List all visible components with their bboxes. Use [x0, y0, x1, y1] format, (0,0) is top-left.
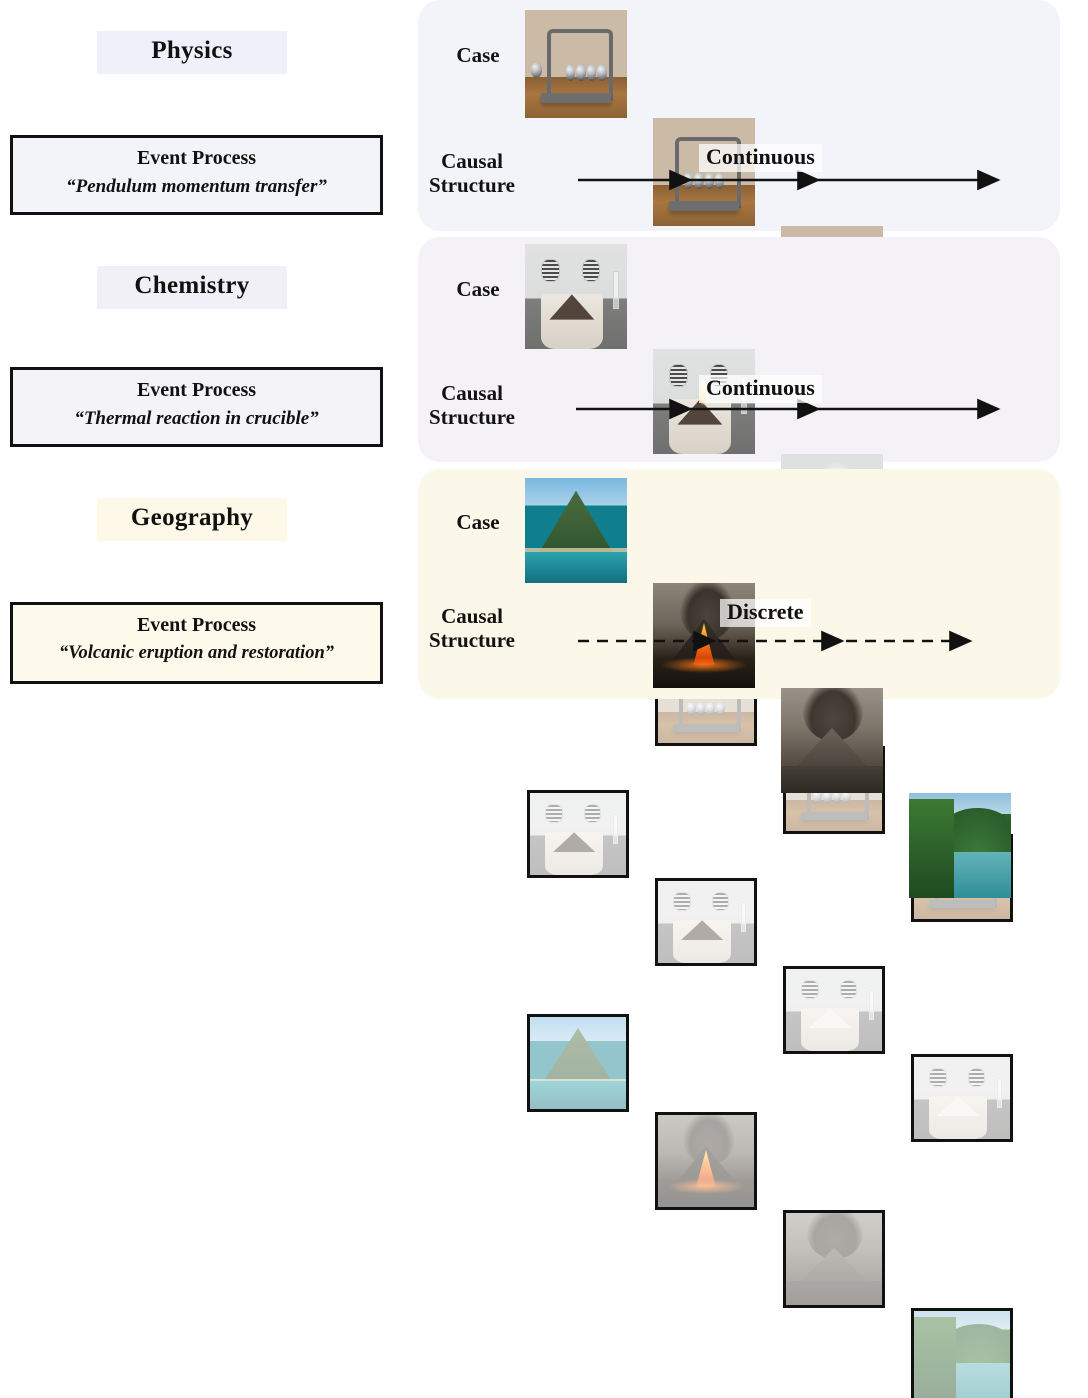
event-process-quote-chemistry: “Thermal reaction in crucible” [15, 405, 378, 434]
causal-frame-3-chemistry [783, 966, 885, 1054]
event-process-quote-geography: “Volcanic eruption and restoration” [15, 640, 378, 668]
causal-frame-3-geography [783, 1210, 885, 1308]
causal-label-line2: Structure [418, 629, 526, 653]
causal-frame-1-chemistry [527, 790, 629, 878]
causal-label-line1: Causal [418, 150, 526, 174]
case-frame-1-geography [525, 478, 627, 583]
causal-label-line2: Structure [418, 174, 526, 198]
panel-physics: Case Causal Structure [418, 0, 1060, 231]
event-process-box-geography: Event Process “Volcanic eruption and res… [10, 602, 383, 684]
causal-row-label-chemistry: Causal Structure [418, 382, 526, 429]
causal-label-line1: Causal [418, 605, 526, 629]
panel-geography: Case Causal Structure [418, 469, 1060, 699]
case-frame-4-geography [909, 793, 1011, 898]
causal-frame-2-geography [655, 1112, 757, 1210]
case-row-label-physics: Case [424, 44, 532, 68]
case-frame-1-physics [525, 10, 627, 118]
domain-title-geography: Geography [97, 498, 287, 541]
panel-chemistry: Case Causal Structure [418, 237, 1060, 462]
event-process-title-geography: Event Process [15, 611, 378, 640]
flow-label-chemistry: Continuous [699, 375, 822, 403]
event-process-title-chemistry: Event Process [15, 376, 378, 405]
domain-title-chemistry: Chemistry [97, 266, 287, 309]
causal-frame-1-geography [527, 1014, 629, 1112]
left-column: Physics Event Process “Pendulum momentum… [0, 0, 410, 699]
case-row-label-chemistry: Case [424, 278, 532, 302]
causal-row-label-physics: Causal Structure [418, 150, 526, 197]
event-process-box-chemistry: Event Process “Thermal reaction in cruci… [10, 367, 383, 447]
causal-row-label-geography: Causal Structure [418, 605, 526, 652]
event-process-quote-physics: “Pendulum momentum transfer” [15, 173, 378, 202]
causal-frame-2-chemistry [655, 878, 757, 966]
flow-label-geography: Discrete [720, 599, 811, 627]
causal-frame-4-geography [911, 1308, 1013, 1398]
event-process-box-physics: Event Process “Pendulum momentum transfe… [10, 135, 383, 215]
flow-label-physics: Continuous [699, 144, 822, 172]
event-process-title-physics: Event Process [15, 144, 378, 173]
figure-canvas: Physics Event Process “Pendulum momentum… [0, 0, 1088, 699]
causal-frame-4-chemistry [911, 1054, 1013, 1142]
case-row-label-geography: Case [424, 511, 532, 535]
causal-label-line1: Causal [418, 382, 526, 406]
case-frame-1-chemistry [525, 244, 627, 349]
case-frame-3-geography [781, 688, 883, 793]
domain-title-physics: Physics [97, 31, 287, 74]
causal-label-line2: Structure [418, 406, 526, 430]
